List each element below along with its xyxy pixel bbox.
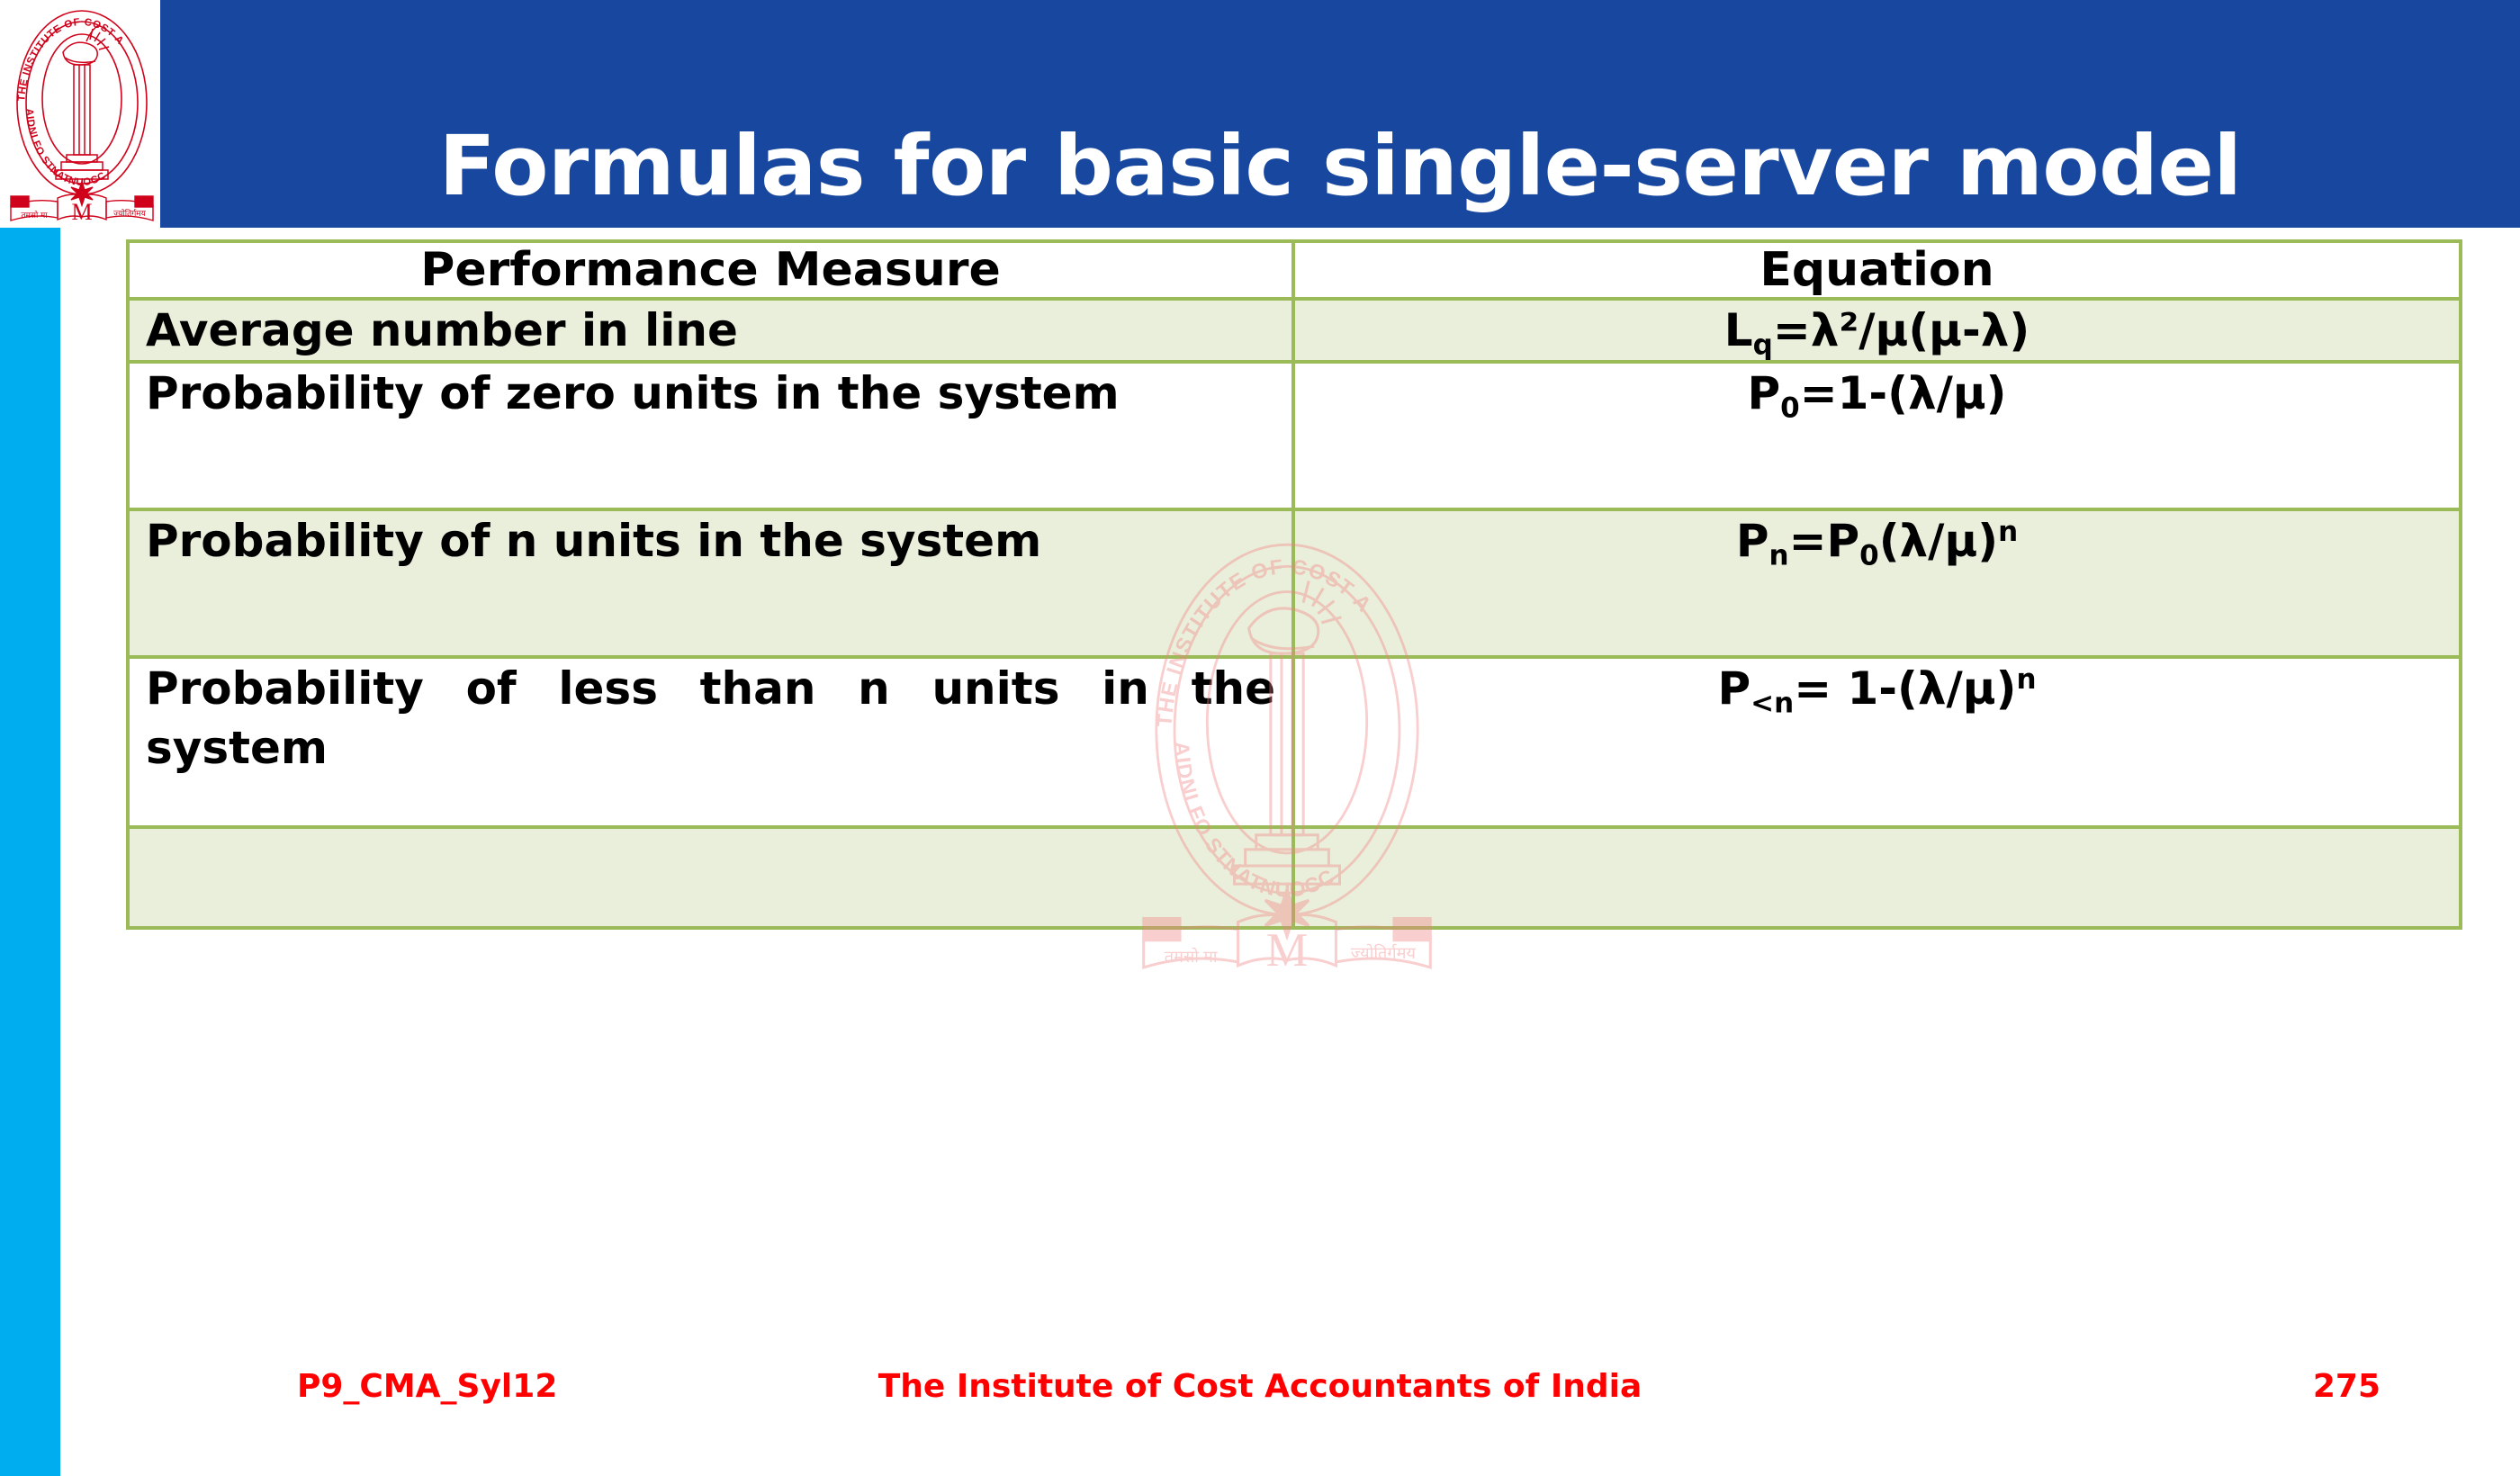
footer-institute-name: The Institute of Cost Accountants of Ind… [0,1368,2520,1405]
institute-logo: THE INSTITUTE OF COST A AIDNI FO STNATNU… [0,0,160,228]
table-row: Probability of less than n units in the … [128,657,2461,827]
equation-cell [1293,827,2461,928]
svg-text:THE INSTITUTE OF COST A: THE INSTITUTE OF COST A [16,17,125,102]
column-header-equation: Equation [1293,241,2461,299]
svg-text:M: M [1266,924,1309,976]
performance-measure-cell: Probability of zero units in the system [128,362,1293,509]
footer-page-number: 275 [2313,1368,2380,1405]
table-row: Average number in lineLq=λ²/μ(μ-λ) [128,299,2461,362]
left-accent-bar [0,228,60,1476]
performance-measure-cell: Average number in line [128,299,1293,362]
equation-cell: P0=1-(λ/μ) [1293,362,2461,509]
column-header-performance-measure: Performance Measure [128,241,1293,299]
svg-text:तमसो मा: तमसो मा [21,210,48,220]
formulas-table: Performance Measure Equation Average num… [126,239,2462,930]
table-row: Probability of n units in the systemPn=P… [128,509,2461,657]
table-body: Average number in lineLq=λ²/μ(μ-λ)Probab… [128,299,2461,928]
performance-measure-cell: Probability of less than n units in the … [128,657,1293,827]
table-row [128,827,2461,928]
table-header-row: Performance Measure Equation [128,241,2461,299]
svg-text:M: M [71,199,92,225]
institute-logo-icon: THE INSTITUTE OF COST A AIDNI FO STNATNU… [7,2,157,225]
svg-text:ज्योतिर्गमय: ज्योतिर्गमय [1351,943,1417,962]
equation-cell: Lq=λ²/μ(μ-λ) [1293,299,2461,362]
performance-measure-cell [128,827,1293,928]
equation-cell: Pn=P0(λ/μ)n [1293,509,2461,657]
equation-cell: P<n= 1-(λ/μ)n [1293,657,2461,827]
slide-canvas: Formulas for basic single-server model T… [0,0,2520,1476]
svg-text:ज्योतिर्गमय: ज्योतिर्गमय [113,208,147,218]
svg-text:AIDNI FO STNATNUOCC: AIDNI FO STNATNUOCC [23,108,108,188]
table-row: Probability of zero units in the systemP… [128,362,2461,509]
title-band: Formulas for basic single-server model [0,0,2520,228]
slide-footer: P9_CMA_Syl12 The Institute of Cost Accou… [0,1368,2520,1431]
performance-measure-cell: Probability of n units in the system [128,509,1293,657]
svg-text:तमसो मा: तमसो मा [1165,947,1218,966]
